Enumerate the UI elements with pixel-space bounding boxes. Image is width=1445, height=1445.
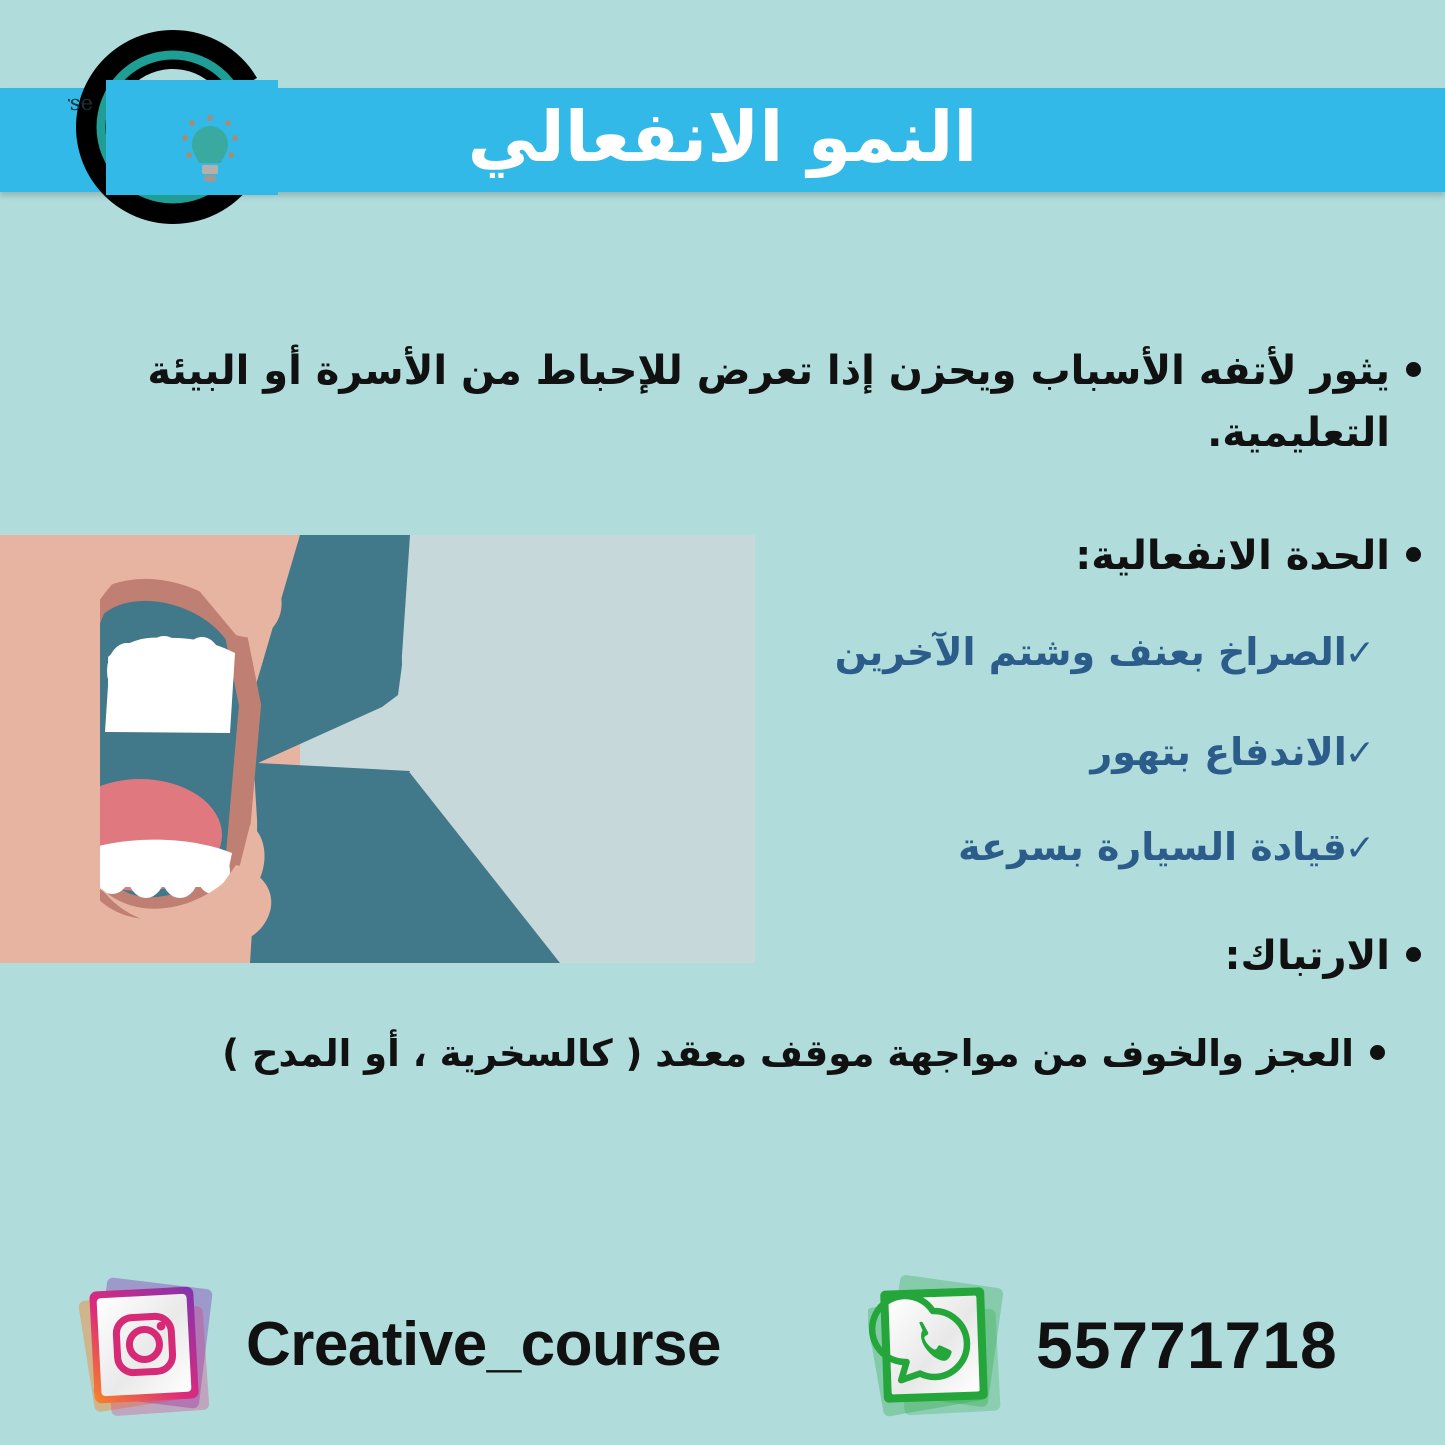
creative-course-logo: Creative_Course xyxy=(68,22,278,232)
logo-wordmark: Creative_Course xyxy=(68,91,93,115)
check-text: الاندفاع بتهور xyxy=(1090,730,1346,774)
instagram-icon[interactable] xyxy=(78,1267,226,1422)
bullet-dot-icon xyxy=(1406,947,1421,962)
bullet-text: يثور لأتفه الأسباب ويحزن إذا تعرض للإحبا… xyxy=(30,340,1390,464)
bullet-dot-icon xyxy=(1406,547,1421,562)
bullet-text: العجز والخوف من مواجهة موقف معقد ( كالسخ… xyxy=(222,1025,1354,1082)
check-text: قيادة السيارة بسرعة xyxy=(958,825,1347,869)
whatsapp-icon[interactable] xyxy=(868,1267,1016,1422)
bullet-dot-icon xyxy=(1370,1045,1385,1060)
bullet-item: العجز والخوف من مواجهة موقف معقد ( كالسخ… xyxy=(222,1025,1385,1082)
check-item: ✓الاندفاع بتهور xyxy=(1090,730,1375,774)
check-icon: ✓ xyxy=(1345,733,1375,774)
instagram-contact[interactable]: Creative_course xyxy=(78,1267,721,1422)
bullet-item-heading: الحدة الانفعالية: xyxy=(1075,525,1421,587)
bullet-text: الحدة الانفعالية: xyxy=(1075,525,1390,587)
bullet-item-heading: الارتباك: xyxy=(1224,925,1421,987)
bullet-dot-icon xyxy=(1406,362,1421,377)
bullet-text: الارتباك: xyxy=(1224,925,1390,987)
check-item: ✓قيادة السيارة بسرعة xyxy=(958,825,1375,869)
check-text: الصراخ بعنف وشتم الآخرين xyxy=(835,630,1347,674)
instagram-handle[interactable]: Creative_course xyxy=(246,1309,721,1380)
check-icon: ✓ xyxy=(1345,633,1375,674)
check-item: ✓الصراخ بعنف وشتم الآخرين xyxy=(835,630,1375,674)
whatsapp-number[interactable]: 55771718 xyxy=(1036,1307,1338,1383)
footer-contact-bar: Creative_course xyxy=(0,1255,1445,1445)
poster-canvas: النمو الانفعالي xyxy=(0,0,1445,1445)
whatsapp-contact[interactable]: 55771718 xyxy=(868,1267,1338,1422)
shouting-mouth-illustration xyxy=(0,535,755,963)
bullet-item: يثور لأتفه الأسباب ويحزن إذا تعرض للإحبا… xyxy=(21,340,1421,464)
check-icon: ✓ xyxy=(1345,828,1375,869)
